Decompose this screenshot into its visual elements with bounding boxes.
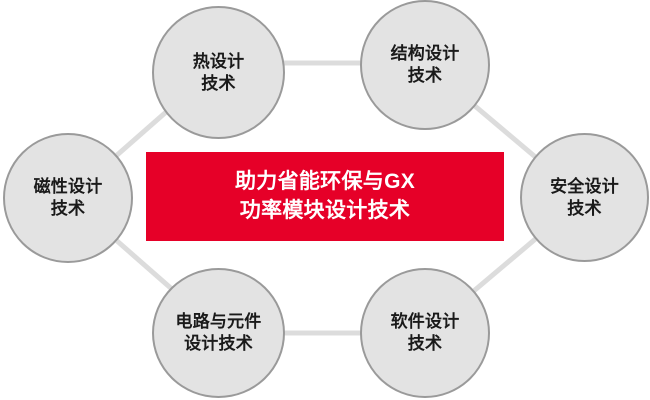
node-thermal: 热设计 技术 [152,6,285,139]
center-hub: 助力省能环保与GX 功率模块设计技术 [146,152,504,241]
node-safety-label: 安全设计 技术 [550,176,619,220]
node-software: 软件设计 技术 [360,268,490,398]
node-structural: 结构设计 技术 [360,0,490,130]
center-hub-label: 助力省能环保与GX 功率模块设计技术 [235,168,415,224]
node-structural-label: 结构设计 技术 [391,43,460,87]
node-circuit: 电路与元件 设计技术 [152,268,285,398]
node-circuit-label: 电路与元件 设计技术 [176,311,262,355]
node-thermal-label: 热设计 技术 [193,51,245,95]
node-software-label: 软件设计 技术 [391,311,460,355]
hub-and-spoke-diagram: 热设计 技术 结构设计 技术 安全设计 技术 软件设计 技术 电路与元件 设计技… [0,0,650,400]
node-magnetic: 磁性设计 技术 [3,133,133,263]
node-safety: 安全设计 技术 [520,133,649,262]
node-magnetic-label: 磁性设计 技术 [34,176,103,220]
